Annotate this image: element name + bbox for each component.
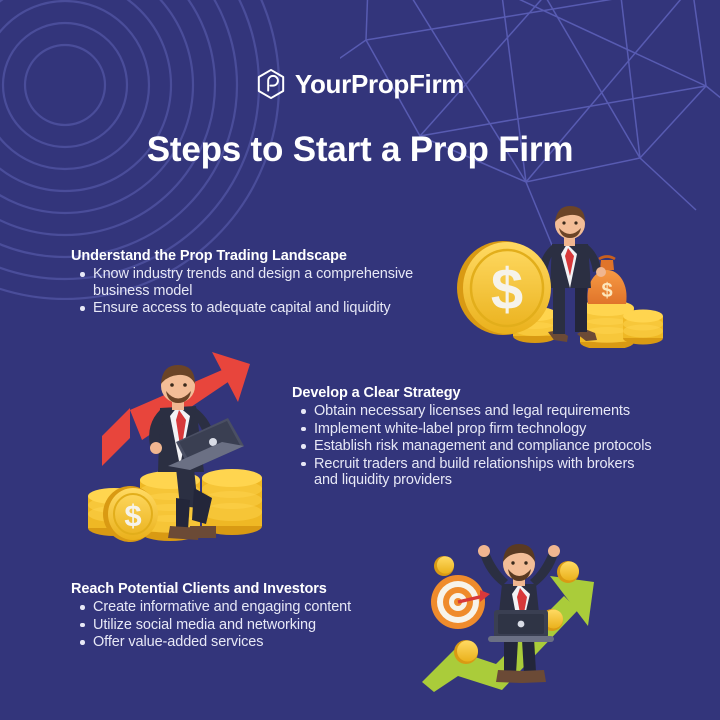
brand-name: YourPropFirm <box>295 69 464 100</box>
svg-text:$: $ <box>491 257 523 322</box>
section-understand-the-prop-trading-landscape: Understand the Prop Trading Landscape Kn… <box>71 248 461 318</box>
section-bullet-list: Create informative and engaging content … <box>71 599 431 651</box>
list-item: Create informative and engaging content <box>93 599 431 616</box>
section-heading: Reach Potential Clients and Investors <box>71 581 431 597</box>
brand-logo: YourPropFirm <box>0 68 720 100</box>
list-item: Utilize social media and networking <box>93 617 431 634</box>
hexagon-p-logo-icon <box>256 68 286 100</box>
list-item: Establish risk management and compliance… <box>314 438 662 455</box>
list-item: Ensure access to adequate capital and li… <box>93 300 461 317</box>
celebrating-man-with-target-and-growth-arrow-illustration <box>418 540 628 692</box>
page-title: Steps to Start a Prop Firm <box>0 130 720 170</box>
section-bullet-list: Obtain necessary licenses and legal requ… <box>292 403 662 489</box>
svg-text:$: $ <box>601 280 612 302</box>
section-heading: Understand the Prop Trading Landscape <box>71 248 461 264</box>
list-item: Recruit traders and build relationships … <box>314 456 662 489</box>
man-with-laptop-on-coin-stacks-illustration: $ <box>72 348 282 544</box>
giant-gold-dollar-coin: $ <box>457 241 551 335</box>
list-item: Know industry trends and design a compre… <box>93 266 461 299</box>
businessman-with-dollar-coin-and-money-bag-illustration: $ <box>455 196 663 348</box>
svg-text:$: $ <box>124 498 141 533</box>
list-item: Implement white-label prop firm technolo… <box>314 421 662 438</box>
infographic-canvas: YourPropFirm Steps to Start a Prop Firm <box>0 0 720 720</box>
list-item: Obtain necessary licenses and legal requ… <box>314 403 662 420</box>
section-heading: Develop a Clear Strategy <box>292 385 662 401</box>
list-item: Offer value-added services <box>93 634 431 651</box>
section-develop-a-clear-strategy: Develop a Clear Strategy Obtain necessar… <box>292 385 662 490</box>
section-bullet-list: Know industry trends and design a compre… <box>71 266 461 317</box>
dartboard-target <box>431 575 490 629</box>
section-reach-potential-clients-and-investors: Reach Potential Clients and Investors Cr… <box>71 581 431 652</box>
laptop <box>488 610 554 642</box>
coin-stack-right <box>623 310 663 345</box>
